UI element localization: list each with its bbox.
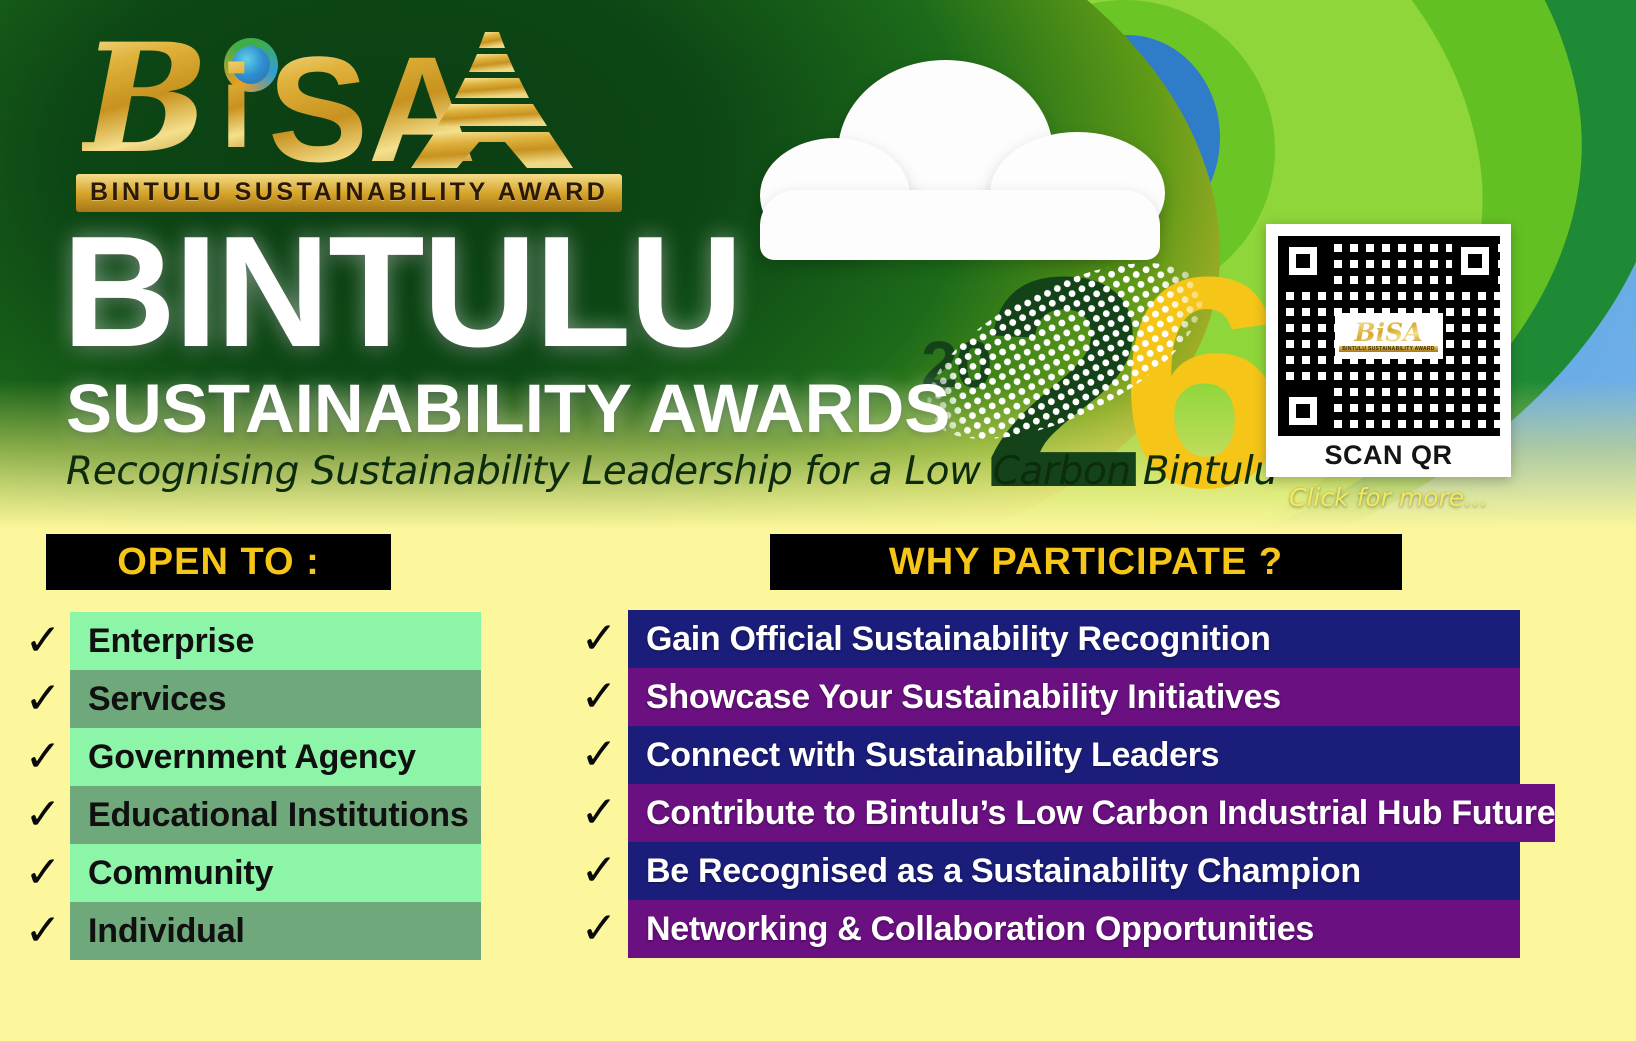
- qr-finder-top-right: [1452, 238, 1498, 284]
- why-participate-header-label: WHY PARTICIPATE ?: [889, 541, 1283, 584]
- list-item: ✓ Government Agency: [16, 728, 481, 786]
- open-to-item-enterprise: Enterprise: [70, 612, 481, 670]
- check-icon: ✓: [16, 670, 70, 728]
- list-item: ✓ Contribute to Bintulu’s Low Carbon Ind…: [570, 784, 1520, 842]
- qr-panel[interactable]: BiSA BINTULU SUSTAINABILITY AWARD SCAN Q…: [1266, 224, 1511, 512]
- why-item-connect-leaders: Connect with Sustainability Leaders: [628, 726, 1520, 784]
- title-block: BINTULU SUSTAINABILITY AWARDS Recognisin…: [62, 228, 1278, 494]
- check-icon: ✓: [570, 726, 628, 784]
- pyramid-icon: [377, 30, 607, 170]
- check-icon: ✓: [570, 784, 628, 842]
- logo-letter-i: i: [220, 48, 253, 166]
- poster-root: B i SA: [0, 0, 1636, 1041]
- list-item: ✓ Enterprise: [16, 612, 481, 670]
- qr-code-icon[interactable]: BiSA BINTULU SUSTAINABILITY AWARD: [1278, 236, 1500, 436]
- check-icon: ✓: [16, 844, 70, 902]
- page-subtitle: SUSTAINABILITY AWARDS: [66, 374, 1278, 443]
- list-item: ✓ Individual: [16, 902, 481, 960]
- open-to-header-label: OPEN TO :: [117, 541, 320, 584]
- list-item: ✓ Educational Institutions: [16, 786, 481, 844]
- list-item-label: Connect with Sustainability Leaders: [646, 736, 1219, 775]
- list-item-label: Be Recognised as a Sustainability Champi…: [646, 852, 1361, 891]
- list-item: ✓ Gain Official Sustainability Recogniti…: [570, 610, 1520, 668]
- check-icon: ✓: [16, 902, 70, 960]
- why-item-gain-recognition: Gain Official Sustainability Recognition: [628, 610, 1520, 668]
- open-to-item-community: Community: [70, 844, 481, 902]
- open-to-item-individual: Individual: [70, 902, 481, 960]
- list-item-label: Individual: [88, 912, 245, 951]
- qr-logo-tagline: BINTULU SUSTAINABILITY AWARD: [1339, 346, 1437, 352]
- list-item: ✓ Community: [16, 844, 481, 902]
- list-item-label: Contribute to Bintulu’s Low Carbon Indus…: [646, 794, 1555, 833]
- check-icon: ✓: [16, 728, 70, 786]
- check-icon: ✓: [16, 786, 70, 844]
- qr-logo-text: BiSA: [1354, 320, 1422, 345]
- qr-finder-bottom-left: [1280, 388, 1326, 434]
- list-item-label: Networking & Collaboration Opportunities: [646, 910, 1314, 949]
- check-icon: ✓: [16, 612, 70, 670]
- scan-qr-label: SCAN QR: [1276, 440, 1501, 471]
- list-item-label: Enterprise: [88, 622, 254, 661]
- open-to-item-government-agency: Government Agency: [70, 728, 481, 786]
- page-title: BINTULU: [62, 228, 1278, 358]
- list-item: ✓ Services: [16, 670, 481, 728]
- why-item-contribute-hub: Contribute to Bintulu’s Low Carbon Indus…: [628, 784, 1555, 842]
- list-item-label: Gain Official Sustainability Recognition: [646, 620, 1271, 659]
- qr-card[interactable]: BiSA BINTULU SUSTAINABILITY AWARD SCAN Q…: [1266, 224, 1511, 477]
- qr-embedded-logo: BiSA BINTULU SUSTAINABILITY AWARD: [1335, 313, 1443, 359]
- list-item: ✓ Networking & Collaboration Opportuniti…: [570, 900, 1520, 958]
- logo-mark: B i SA: [72, 22, 672, 167]
- open-to-item-educational-institutions: Educational Institutions: [70, 786, 481, 844]
- check-icon: ✓: [570, 610, 628, 668]
- open-to-item-services: Services: [70, 670, 481, 728]
- why-item-showcase-initiatives: Showcase Your Sustainability Initiatives: [628, 668, 1520, 726]
- why-item-networking: Networking & Collaboration Opportunities: [628, 900, 1520, 958]
- check-icon: ✓: [570, 668, 628, 726]
- list-item: ✓ Be Recognised as a Sustainability Cham…: [570, 842, 1520, 900]
- page-tagline: Recognising Sustainability Leadership fo…: [66, 449, 1278, 494]
- open-to-list: ✓ Enterprise ✓ Services ✓ Government Age…: [16, 612, 481, 960]
- why-participate-header: WHY PARTICIPATE ?: [770, 534, 1402, 590]
- click-for-more-link[interactable]: Click for more...: [1266, 483, 1511, 512]
- why-participate-list: ✓ Gain Official Sustainability Recogniti…: [570, 610, 1520, 958]
- qr-finder-top-left: [1280, 238, 1326, 284]
- list-item: ✓ Connect with Sustainability Leaders: [570, 726, 1520, 784]
- why-item-sustainability-champion: Be Recognised as a Sustainability Champi…: [628, 842, 1520, 900]
- check-icon: ✓: [570, 900, 628, 958]
- open-to-header: OPEN TO :: [46, 534, 391, 590]
- list-item-label: Services: [88, 680, 226, 719]
- list-item-label: Government Agency: [88, 738, 416, 777]
- list-item-label: Showcase Your Sustainability Initiatives: [646, 678, 1281, 717]
- list-item-label: Community: [88, 854, 273, 893]
- list-item-label: Educational Institutions: [88, 796, 469, 835]
- bisa-logo[interactable]: B i SA: [72, 22, 672, 217]
- check-icon: ✓: [570, 842, 628, 900]
- logo-letter-b: B: [82, 24, 209, 174]
- list-item: ✓ Showcase Your Sustainability Initiativ…: [570, 668, 1520, 726]
